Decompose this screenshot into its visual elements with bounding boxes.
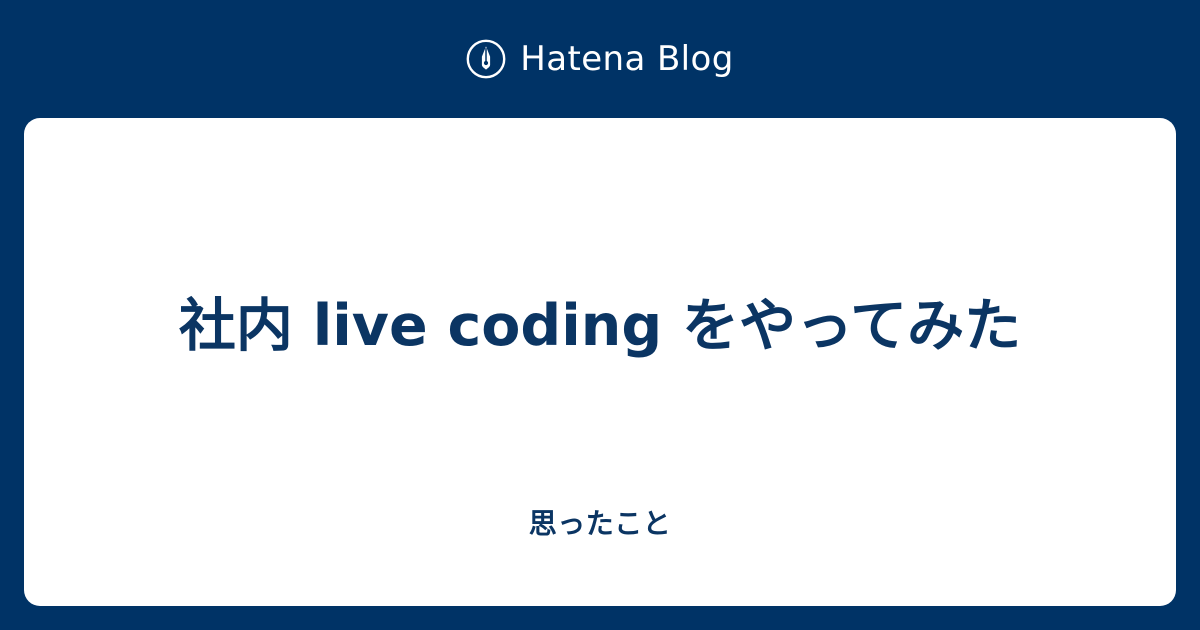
brand-name: Hatena Blog	[520, 39, 733, 79]
og-image-canvas: Hatena Blog 社内 live coding をやってみた 思ったこと	[0, 0, 1200, 630]
entry-title: 社内 live coding をやってみた	[80, 290, 1120, 363]
entry-card: 社内 live coding をやってみた 思ったこと	[24, 118, 1176, 606]
site-header: Hatena Blog	[0, 0, 1200, 118]
blog-name: 思ったこと	[80, 506, 1120, 542]
fountain-pen-nib-circle-icon	[466, 39, 506, 79]
